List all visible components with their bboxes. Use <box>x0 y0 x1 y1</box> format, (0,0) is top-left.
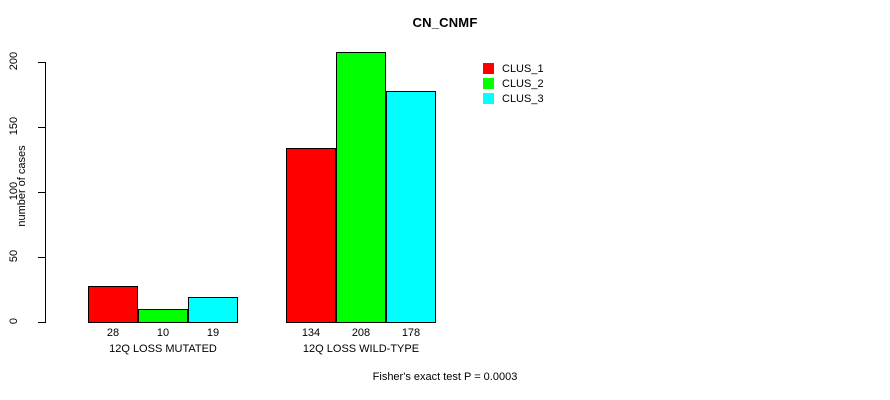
bar-value-label: 178 <box>386 327 436 339</box>
y-axis-tick <box>38 62 45 63</box>
barplot-figure: CN_CNMF 050100150200 number of cases 281… <box>0 0 890 400</box>
y-axis-tick <box>38 127 45 128</box>
legend-item-clus_2: CLUS_2 <box>483 76 544 91</box>
y-axis-tick <box>38 257 45 258</box>
bar-12q-loss-mutated-clus_1 <box>88 286 138 323</box>
bar-value-label: 28 <box>88 327 138 339</box>
bar-12q-loss-mutated-clus_3 <box>188 297 238 323</box>
group-label: 12Q LOSS WILD-TYPE <box>246 343 476 355</box>
legend-item-clus_1: CLUS_1 <box>483 61 544 76</box>
y-axis-label: number of cases <box>16 126 28 246</box>
chart-title: CN_CNMF <box>0 15 890 30</box>
y-axis-tick <box>38 322 45 323</box>
legend-item-label: CLUS_2 <box>502 78 544 90</box>
legend-item-label: CLUS_3 <box>502 93 544 105</box>
group-label: 12Q LOSS MUTATED <box>48 343 278 355</box>
legend-swatch-icon <box>483 78 494 89</box>
legend-swatch-icon <box>483 63 494 74</box>
legend-item-label: CLUS_1 <box>502 63 544 75</box>
bar-12q-loss-wild-type-clus_1 <box>286 148 336 323</box>
y-axis-tick-label: 200 <box>8 41 20 81</box>
y-axis-tick <box>38 192 45 193</box>
bar-value-label: 10 <box>138 327 188 339</box>
y-axis-tick-label: 0 <box>8 301 20 341</box>
fisher-test-annotation: Fisher's exact test P = 0.0003 <box>0 371 890 383</box>
bar-12q-loss-wild-type-clus_3 <box>386 91 436 323</box>
bar-value-label: 134 <box>286 327 336 339</box>
legend-swatch-icon <box>483 93 494 104</box>
legend-item-clus_3: CLUS_3 <box>483 91 544 106</box>
bar-value-label: 19 <box>188 327 238 339</box>
bar-12q-loss-mutated-clus_2 <box>138 309 188 323</box>
bar-12q-loss-wild-type-clus_2 <box>336 52 386 323</box>
y-axis-line <box>45 62 46 323</box>
bar-value-label: 208 <box>336 327 386 339</box>
legend: CLUS_1CLUS_2CLUS_3 <box>483 61 544 106</box>
